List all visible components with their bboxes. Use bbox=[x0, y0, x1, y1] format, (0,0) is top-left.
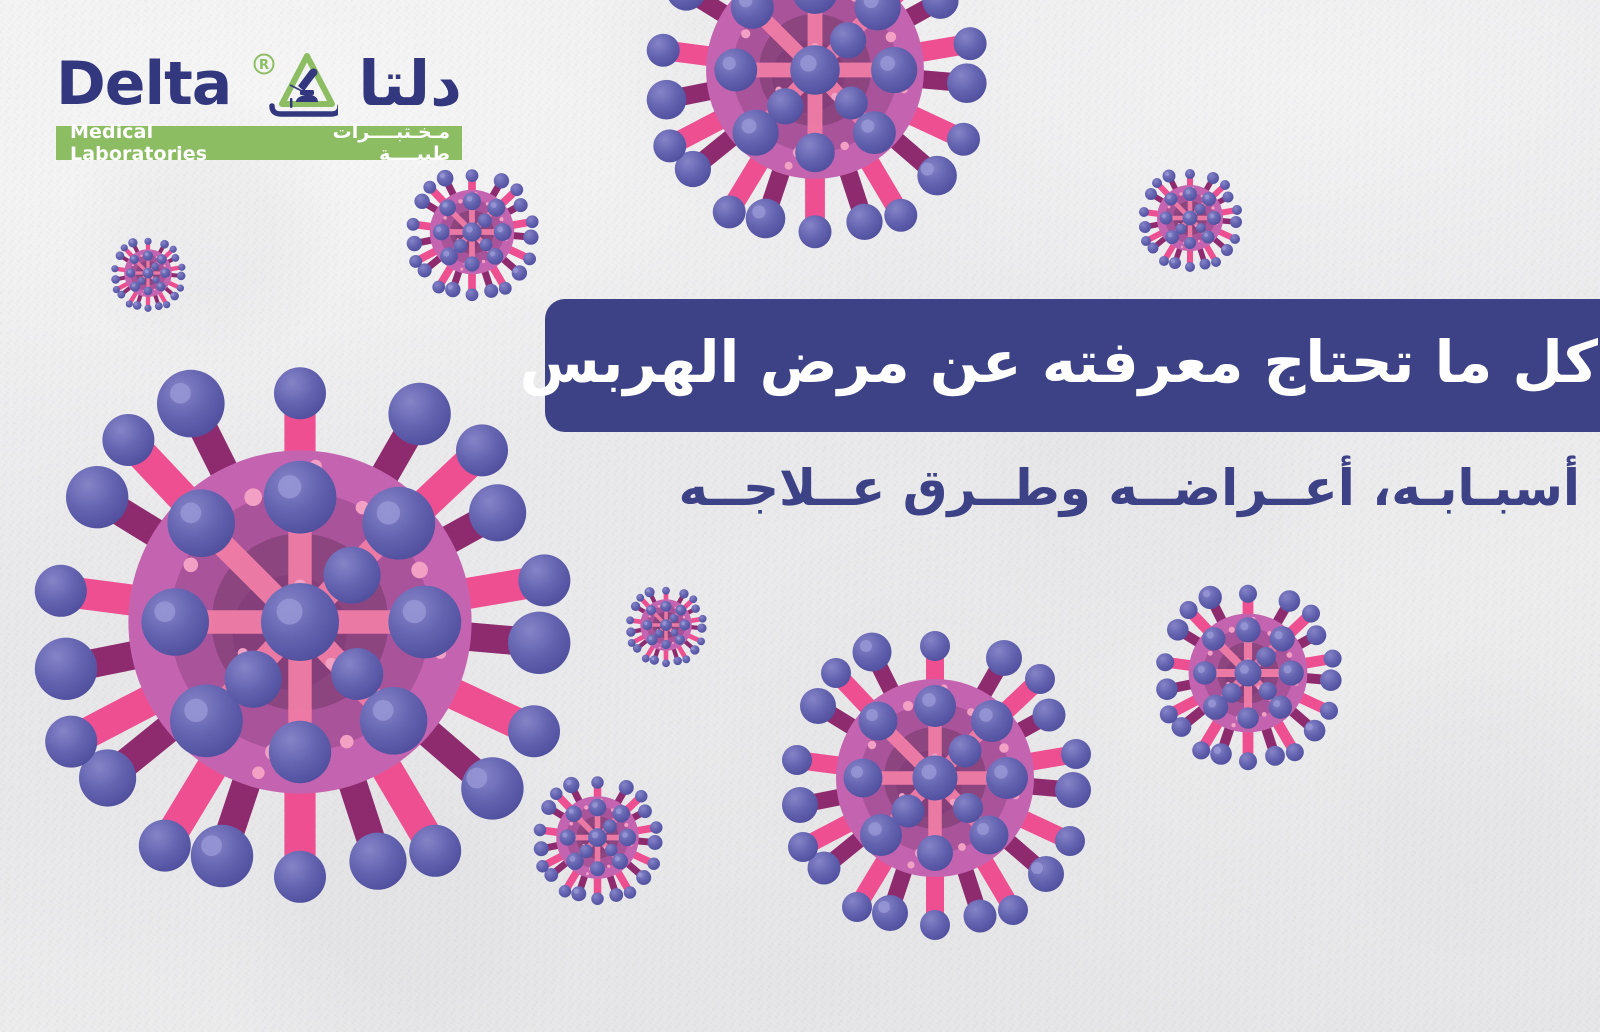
svg-text:R: R bbox=[259, 58, 269, 73]
headline-text: كل ما تحتاج معرفته عن مرض الهربس bbox=[520, 332, 1598, 393]
brand-tagline-bar: Medical Laboratories مـخـتبــــرات طبيــ… bbox=[56, 126, 462, 160]
brand-name-ar: دلتا bbox=[358, 53, 462, 115]
brand-logo[interactable]: Delta R bbox=[56, 48, 462, 160]
brand-tagline-en: Medical Laboratories bbox=[70, 121, 275, 165]
virus-tiny-upper-right bbox=[1140, 168, 1240, 268]
virus-tiny-center bbox=[627, 586, 705, 664]
virus-large-left bbox=[40, 362, 560, 882]
virus-top-right bbox=[650, 0, 980, 235]
subtitle-block: أسبـابـه، أعــراضــه وطــرق عــلاجــه bbox=[520, 460, 1580, 518]
virus-right-mid bbox=[1158, 583, 1338, 763]
subtitle-text: أسبـابـه، أعــراضــه وطــرق عــلاجــه bbox=[678, 459, 1580, 517]
virus-tiny-far-left bbox=[112, 237, 184, 309]
virus-bottom-center bbox=[785, 628, 1085, 928]
brand-tagline-ar: مـخـتبــــرات طبيــــة bbox=[275, 121, 451, 165]
brand-name-en: Delta bbox=[56, 54, 231, 114]
virus-small-upper-left bbox=[408, 168, 536, 296]
poster-canvas: Delta R bbox=[0, 0, 1600, 1032]
logo-top-row: Delta R bbox=[56, 48, 462, 120]
microscope-in-triangle-icon: R bbox=[252, 50, 338, 118]
registered-mark-icon: R bbox=[254, 55, 273, 74]
headline-banner: كل ما تحتاج معرفته عن مرض الهربس bbox=[545, 299, 1600, 432]
